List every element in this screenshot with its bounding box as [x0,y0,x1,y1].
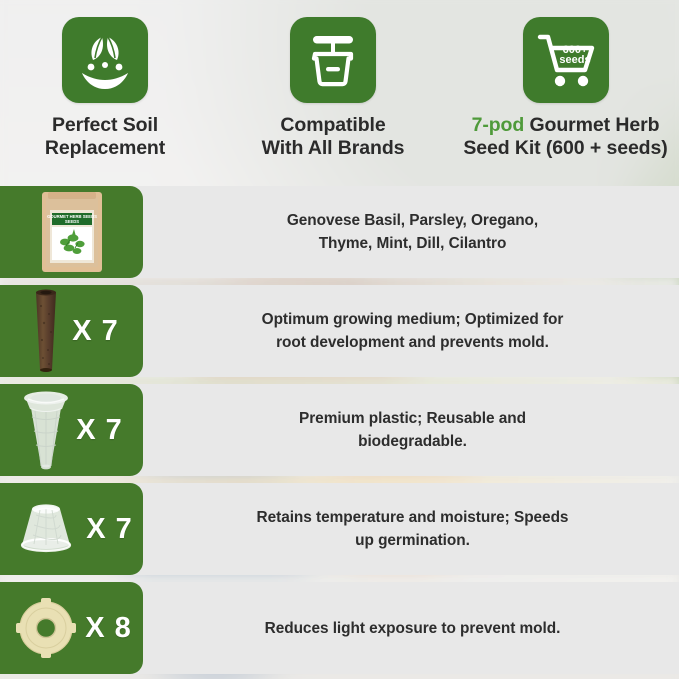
feature-label: 7-pod Gourmet Herb Seed Kit (600 + seeds… [452,114,679,160]
row-image-group: X 7 [0,384,143,476]
table-row: X 7 Optimum growing medium; Optimized fo… [0,285,679,377]
row-description-line-2: root development and prevents mold. [262,331,564,354]
row-quantity: X 8 [85,612,132,645]
row-description-line-2: Thyme, Mint, Dill, Cilantro [287,232,538,255]
grow-sponge-icon [24,288,68,374]
feature-compatible: Compatible With All Brands [228,0,438,160]
feature-line-2: With All Brands [228,137,438,160]
row-quantity: X 7 [86,513,133,546]
table-row: GOURMET HERB SEEDS SEEDS Geno [0,186,679,278]
row-quantity: X 7 [72,315,119,348]
light-shield-disc-icon [11,593,81,663]
row-description: Premium plastic; Reusable and biodegrada… [150,384,675,476]
row-description-line-2: biodegradable. [299,430,526,453]
row-description-line-1: Optimum growing medium; Optimized for [262,308,564,331]
row-description-line-1: Reduces light exposure to prevent mold. [265,617,561,640]
feature-label: Perfect Soil Replacement [0,114,210,160]
row-quantity: X 7 [76,414,123,447]
feature-label: Compatible With All Brands [228,114,438,160]
grow-pod-icon [290,17,376,103]
row-image-group: X 7 [0,483,143,575]
feature-line-1: 7-pod Gourmet Herb [452,114,679,137]
table-row: X 8 Reduces light exposure to prevent mo… [0,582,679,674]
cart-seed-count-line2: seeds [559,54,590,66]
feature-line-2: Replacement [0,137,210,160]
header-features: Perfect Soil Replacement Compatible With… [0,0,679,185]
row-description-line-1: Retains temperature and moisture; Speeds [257,506,569,529]
row-description-line-1: Premium plastic; Reusable and [299,407,526,430]
seed-packet-icon: GOURMET HERB SEEDS SEEDS [0,186,143,278]
row-description: Genovese Basil, Parsley, Oregano, Thyme,… [150,186,675,278]
row-description: Retains temperature and moisture; Speeds… [150,483,675,575]
plastic-grow-basket-icon [20,387,72,473]
feature-line-1: Perfect Soil [0,114,210,137]
product-infographic: Perfect Soil Replacement Compatible With… [0,0,679,679]
table-row: X 7 Retains temperature and moisture; Sp… [0,483,679,575]
row-image-group: X 7 [0,285,143,377]
row-description: Optimum growing medium; Optimized for ro… [150,285,675,377]
humidity-dome-icon [10,499,82,559]
svg-text:SEEDS: SEEDS [64,219,78,224]
shopping-cart-seeds-icon: 600+ seeds [523,17,609,103]
row-image-group: X 8 [0,582,143,674]
table-row: X 7 Premium plastic; Reusable and biodeg… [0,384,679,476]
feature-accent-text: 7-pod [472,114,525,136]
feature-line-1-rest: Gourmet Herb [524,114,659,136]
row-description-line-1: Genovese Basil, Parsley, Oregano, [287,209,538,232]
feature-line-2: Seed Kit (600 + seeds) [452,137,679,160]
feature-line-1: Compatible [228,114,438,137]
feature-perfect-soil: Perfect Soil Replacement [0,0,210,160]
row-description: Reduces light exposure to prevent mold. [150,582,675,674]
feature-seed-kit: 600+ seeds 7-pod Gourmet Herb Seed Kit (… [452,0,679,160]
leaf-soil-icon [62,17,148,103]
row-description-line-2: up germination. [257,529,569,552]
